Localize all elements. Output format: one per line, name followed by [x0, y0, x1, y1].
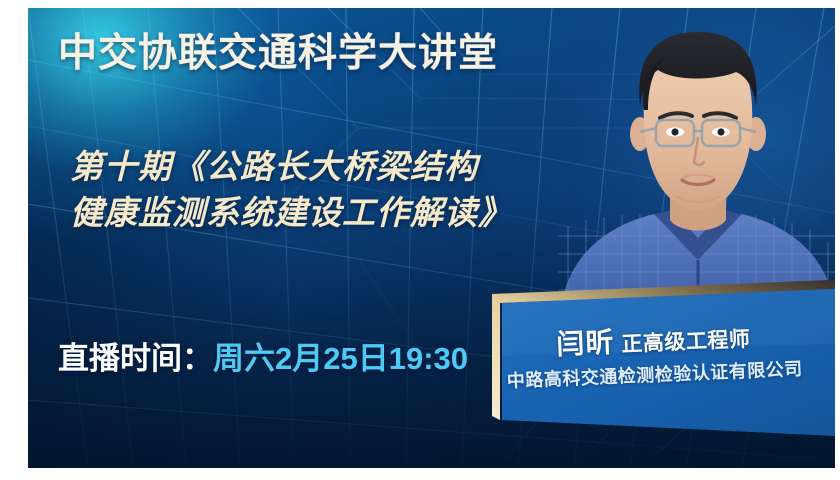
live-time-label: 直播时间：: [58, 341, 213, 376]
poster-subtitle: 第十期《公路长大桥梁结构 健康监测系统建设工作解读》: [70, 144, 512, 235]
speaker-card-shape: [478, 256, 835, 456]
live-time-row: 直播时间：周六2月25日19:30: [58, 333, 468, 378]
live-time-value: 周六2月25日19:30: [213, 341, 468, 376]
speaker-info-card: 闫昕正高级工程师 中路高科交通检测检验认证有限公司: [478, 256, 835, 456]
poster-main-title: 中交协联交通科学大讲堂: [58, 34, 498, 75]
poster-canvas: 中交协联交通科学大讲堂 第十期《公路长大桥梁结构 健康监测系统建设工作解读》 直…: [28, 8, 835, 468]
